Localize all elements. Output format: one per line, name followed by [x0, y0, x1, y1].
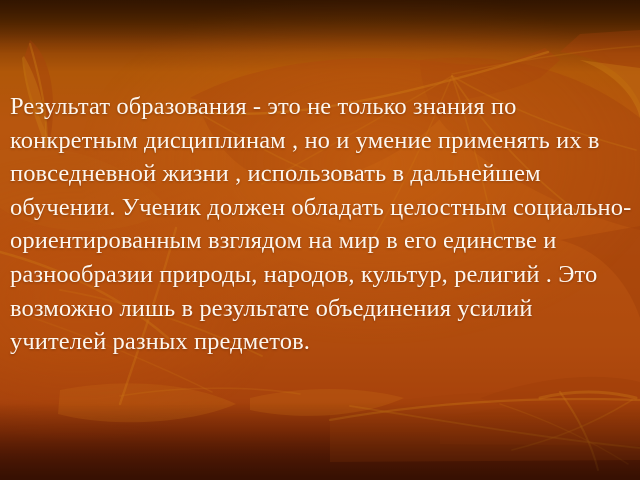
presentation-slide: Результат образования - это не только зн…: [0, 0, 640, 480]
slide-body-text: Результат образования - это не только зн…: [10, 90, 632, 359]
